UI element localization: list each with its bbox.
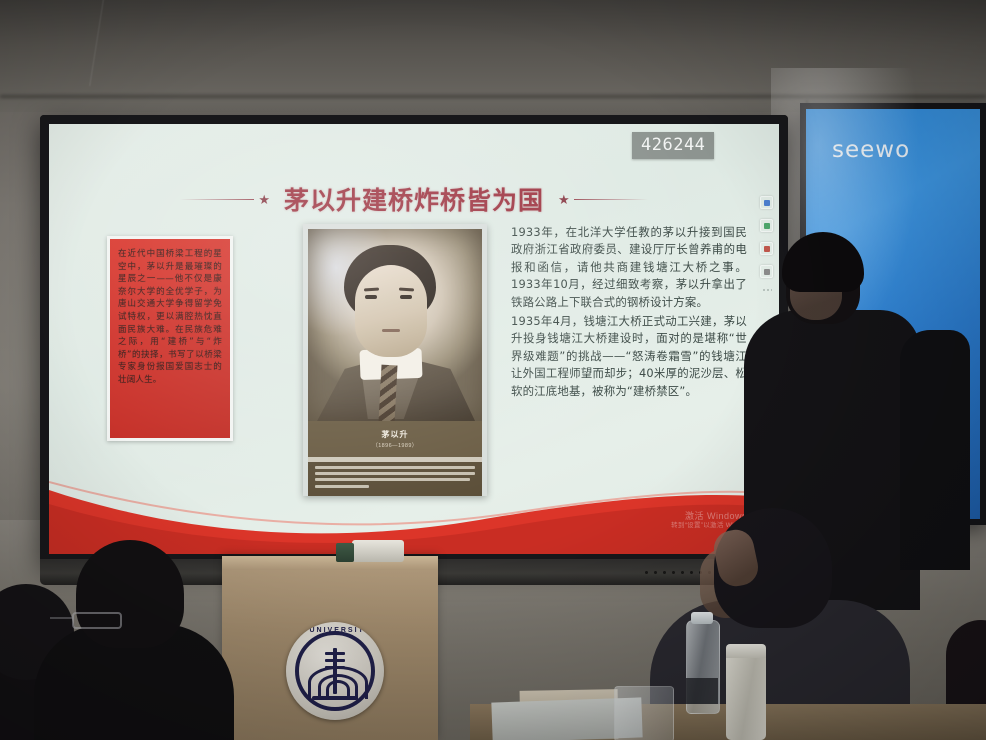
star-icon-right: ★	[558, 193, 570, 206]
eyeglasses	[72, 612, 122, 629]
body-paragraph-2: 1935年4月，钱塘江大桥正式动工兴建，茅以升投身钱塘江大桥建设时，面对的是堪称…	[511, 313, 747, 400]
ornament-line-right	[574, 199, 648, 200]
emblem-base	[312, 696, 358, 700]
portrait-photo	[308, 229, 482, 421]
portrait-caption-name: 茅以升	[382, 429, 409, 440]
classroom-scene: seewo 426244 ★ 茅以升建桥炸桥皆为国 ★ 在近代中国桥梁工程的星空…	[0, 0, 986, 740]
lectern: N UNIVERSITY	[222, 556, 438, 740]
interactive-whiteboard[interactable]: 426244 ★ 茅以升建桥炸桥皆为国 ★ 在近代中国桥梁工程的星空中，茅以升是…	[40, 115, 788, 563]
page-icon[interactable]	[760, 219, 773, 232]
water-bottle-cap	[691, 612, 713, 624]
portrait-card: 茅以升 （1896—1989）	[303, 224, 487, 496]
university-emblem: N UNIVERSITY	[286, 622, 384, 720]
student-near-head	[76, 540, 184, 648]
presenter-arm	[900, 330, 970, 570]
title-ornament-left: ★	[180, 193, 270, 206]
intro-red-card: 在近代中国桥梁工程的星空中，茅以升是最璀璨的星辰之一——他不仅是康奈尔大学的全优…	[107, 236, 233, 441]
seewo-logo: seewo	[832, 137, 910, 163]
image-icon[interactable]	[760, 242, 773, 255]
slide-body-text: 1933年，在北洋大学任教的茅以升接到国民政府浙江省政府委员、建设厅厅长曾养甫的…	[511, 224, 747, 402]
lectern-object-tissue	[352, 540, 404, 562]
slide-icon-rail[interactable]	[760, 196, 773, 292]
session-code-badge: 426244	[632, 132, 714, 159]
file-icon[interactable]	[760, 265, 773, 278]
title-ornament-right: ★	[558, 193, 648, 206]
wall-crack	[89, 0, 224, 105]
cup	[614, 686, 674, 740]
wave-graphic	[49, 468, 779, 554]
thermos	[726, 652, 766, 740]
emblem-text: N UNIVERSITY	[286, 627, 384, 634]
thermos-cap	[726, 644, 766, 658]
note-icon[interactable]	[760, 196, 773, 209]
more-dots-icon[interactable]	[762, 288, 772, 292]
body-paragraph-1: 1933年，在北洋大学任教的茅以升接到国民政府浙江省政府委员、建设厅厅长曾养甫的…	[511, 224, 747, 311]
page-title: 茅以升建桥炸桥皆为国	[284, 181, 544, 217]
slide-footer-wave: 激活 Windows 转到“设置”以激活 Windows。	[49, 468, 779, 554]
presentation-slide[interactable]: 426244 ★ 茅以升建桥炸桥皆为国 ★ 在近代中国桥梁工程的星空中，茅以升是…	[49, 124, 779, 554]
water-bottle-label	[686, 678, 718, 704]
star-icon-left: ★	[258, 193, 270, 206]
lectern-top	[222, 556, 438, 570]
ornament-line-left	[180, 199, 254, 200]
photo-vignette	[308, 229, 482, 421]
portrait-caption-dates: （1896—1989）	[372, 441, 417, 449]
lectern-object-cup	[336, 543, 354, 562]
slide-title-row: ★ 茅以升建桥炸桥皆为国 ★	[49, 182, 779, 216]
portrait-caption: 茅以升 （1896—1989）	[308, 421, 482, 457]
intro-red-card-text: 在近代中国桥梁工程的星空中，茅以升是最璀璨的星辰之一——他不仅是康奈尔大学的全优…	[118, 248, 222, 387]
